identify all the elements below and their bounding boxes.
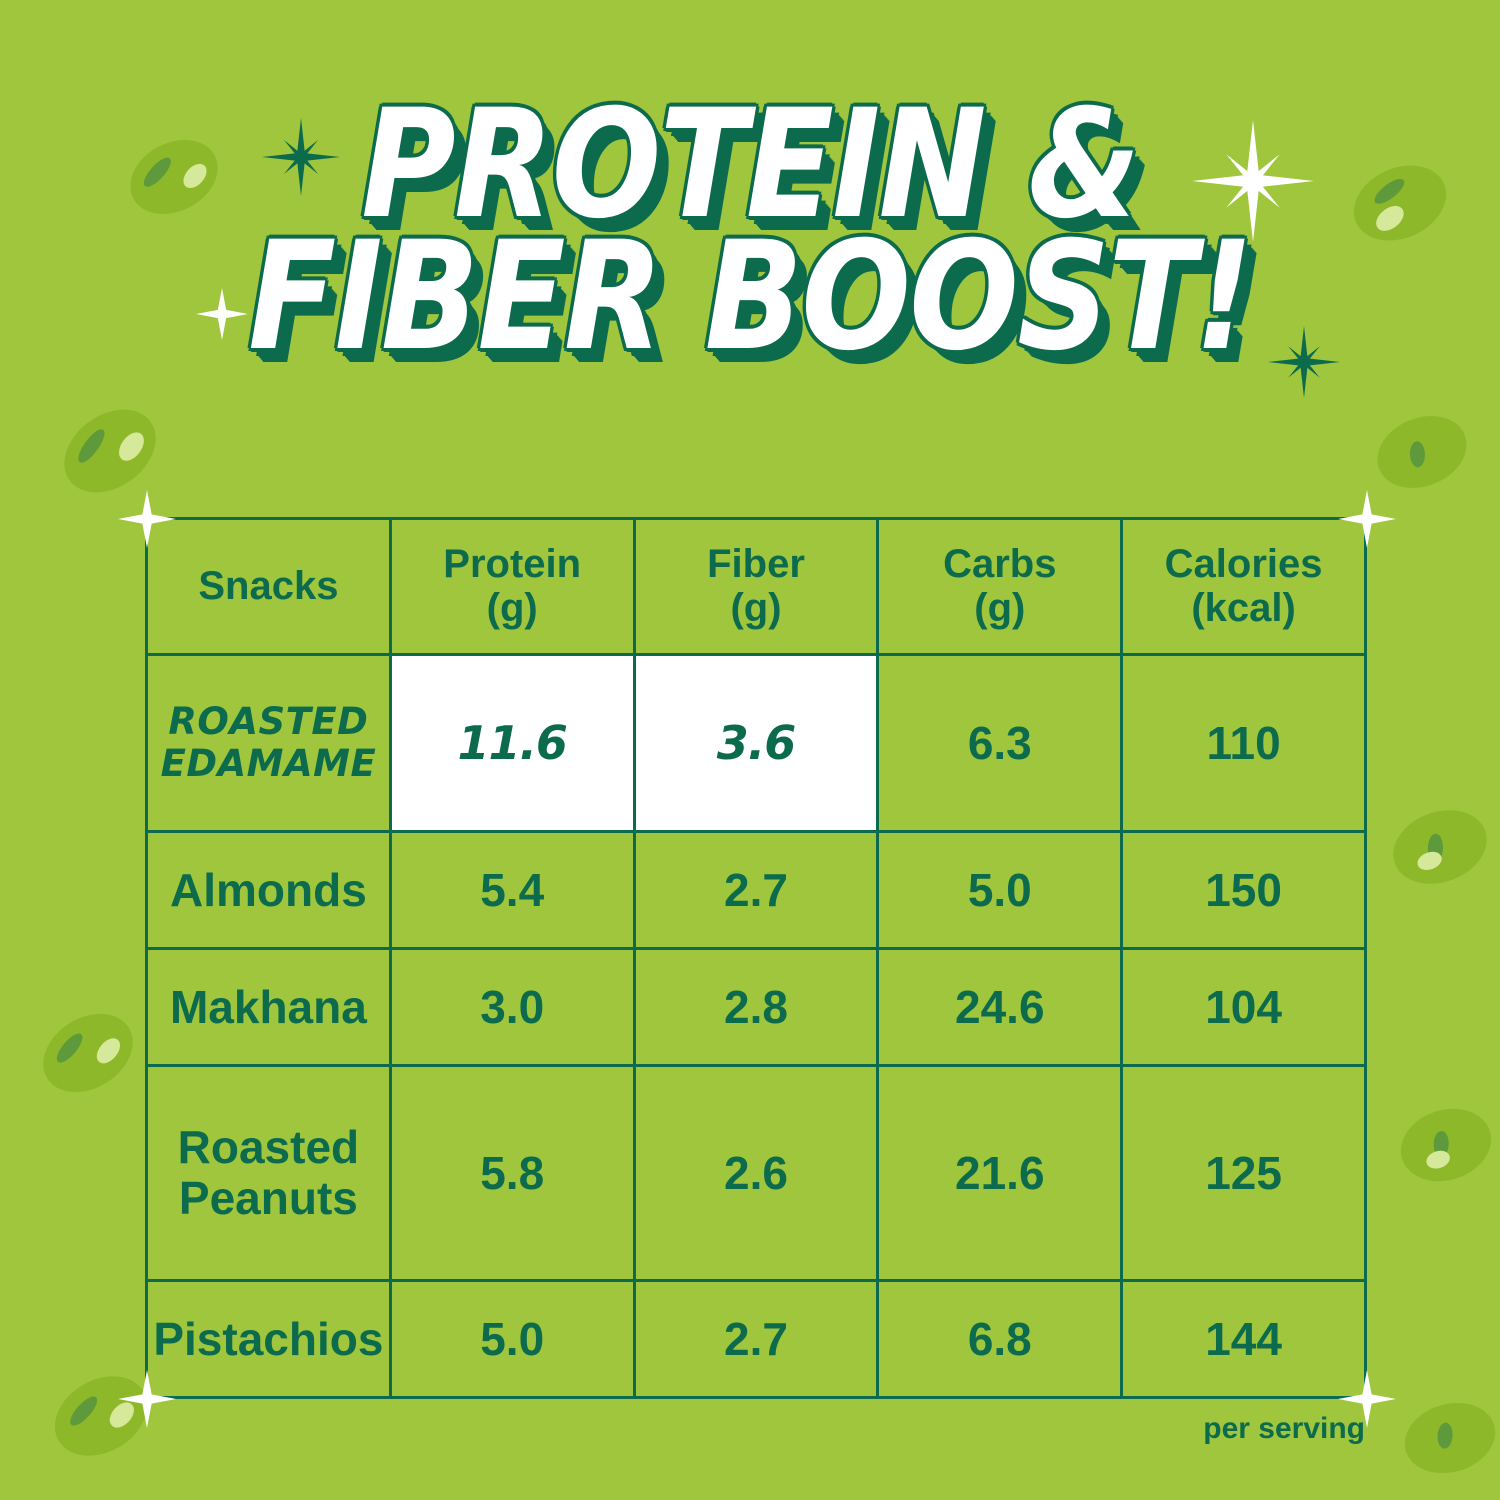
cell-carbs-almonds: 5.0 bbox=[878, 831, 1122, 948]
eight-point-star-icon bbox=[1268, 326, 1340, 398]
table-row: Almonds 5.4 2.7 5.0 150 bbox=[147, 831, 1366, 948]
row-label-line-1: Almonds bbox=[148, 865, 389, 916]
eight-point-star-icon bbox=[1192, 120, 1314, 242]
column-header-snacks: Snacks bbox=[147, 519, 391, 655]
column-header-carbs-unit: (g) bbox=[879, 587, 1120, 630]
cell-fiber-roasted-edamame: 3.6 bbox=[634, 655, 878, 832]
table-row: Pistachios 5.0 2.7 6.8 144 bbox=[147, 1280, 1366, 1397]
cell-protein-roasted-peanuts: 5.8 bbox=[390, 1066, 634, 1280]
cell-calories-roasted-edamame: 110 bbox=[1122, 655, 1366, 832]
cell-carbs-roasted-peanuts: 21.6 bbox=[878, 1066, 1122, 1280]
cell-fiber-makhana: 2.8 bbox=[634, 948, 878, 1065]
table-header-row: Snacks Protein (g) Fiber (g) Carbs (g) bbox=[147, 519, 1366, 655]
four-point-sparkle-icon bbox=[118, 490, 176, 548]
cell-calories-makhana: 104 bbox=[1122, 948, 1366, 1065]
cell-fiber-almonds: 2.7 bbox=[634, 831, 878, 948]
row-label-line-1: Pistachios bbox=[148, 1314, 389, 1365]
column-header-carbs-name: Carbs bbox=[879, 543, 1120, 586]
four-point-sparkle-icon bbox=[118, 1370, 176, 1428]
column-header-fiber-name: Fiber bbox=[636, 543, 877, 586]
column-header-protein-unit: (g) bbox=[392, 587, 633, 630]
headline-line-2: FIBER BOOST! bbox=[105, 228, 1395, 366]
edamame-bean-icon bbox=[29, 998, 148, 1108]
cell-calories-pistachios: 144 bbox=[1122, 1280, 1366, 1397]
column-header-fiber-unit: (g) bbox=[636, 587, 877, 630]
column-header-fiber: Fiber (g) bbox=[634, 519, 878, 655]
row-label-line-2: EDAMAME bbox=[148, 743, 389, 784]
row-label-line-2: Peanuts bbox=[148, 1173, 389, 1224]
row-label-line-1: ROASTED bbox=[148, 701, 389, 742]
edamame-bean-icon bbox=[1391, 1097, 1500, 1192]
per-serving-note: per serving bbox=[1203, 1412, 1365, 1446]
column-header-calories-unit: (kcal) bbox=[1123, 587, 1364, 630]
row-label-makhana: Makhana bbox=[147, 948, 391, 1065]
cell-protein-almonds: 5.4 bbox=[390, 831, 634, 948]
row-label-almonds: Almonds bbox=[147, 831, 391, 948]
edamame-bean-icon bbox=[1342, 152, 1458, 255]
row-label-roasted-edamame: ROASTED EDAMAME bbox=[147, 655, 391, 832]
table-row: ROASTED EDAMAME 11.6 3.6 6.3 110 bbox=[147, 655, 1366, 832]
cell-calories-roasted-peanuts: 125 bbox=[1122, 1066, 1366, 1280]
edamame-bean-icon bbox=[1396, 1393, 1500, 1484]
column-header-snacks-name: Snacks bbox=[148, 565, 389, 608]
cell-protein-pistachios: 5.0 bbox=[390, 1280, 634, 1397]
cell-carbs-pistachios: 6.8 bbox=[878, 1280, 1122, 1397]
column-header-calories: Calories (kcal) bbox=[1122, 519, 1366, 655]
cell-calories-almonds: 150 bbox=[1122, 831, 1366, 948]
four-point-sparkle-icon bbox=[196, 288, 248, 340]
column-header-protein-name: Protein bbox=[392, 543, 633, 586]
row-label-line-1: Roasted bbox=[148, 1122, 389, 1173]
column-header-carbs: Carbs (g) bbox=[878, 519, 1122, 655]
cell-protein-makhana: 3.0 bbox=[390, 948, 634, 1065]
cell-fiber-roasted-peanuts: 2.6 bbox=[634, 1066, 878, 1280]
row-label-pistachios: Pistachios bbox=[147, 1280, 391, 1397]
row-label-line-1: Makhana bbox=[148, 982, 389, 1033]
nutrition-table: Snacks Protein (g) Fiber (g) Carbs (g) bbox=[145, 517, 1367, 1399]
edamame-bean-icon bbox=[1367, 403, 1478, 501]
four-point-sparkle-icon bbox=[1338, 490, 1396, 548]
cell-fiber-pistachios: 2.7 bbox=[634, 1280, 878, 1397]
cell-carbs-makhana: 24.6 bbox=[878, 948, 1122, 1065]
nutrition-table-wrapper: Snacks Protein (g) Fiber (g) Carbs (g) bbox=[145, 517, 1367, 1399]
cell-protein-roasted-edamame: 11.6 bbox=[390, 655, 634, 832]
column-header-calories-name: Calories bbox=[1123, 543, 1364, 586]
column-header-protein: Protein (g) bbox=[390, 519, 634, 655]
row-label-roasted-peanuts: Roasted Peanuts bbox=[147, 1066, 391, 1280]
edamame-bean-icon bbox=[117, 125, 230, 228]
table-row: Makhana 3.0 2.8 24.6 104 bbox=[147, 948, 1366, 1065]
table-row: Roasted Peanuts 5.8 2.6 21.6 125 bbox=[147, 1066, 1366, 1280]
cell-carbs-roasted-edamame: 6.3 bbox=[878, 655, 1122, 832]
edamame-bean-icon bbox=[1383, 798, 1497, 897]
poster-canvas: PROTEIN & FIBER BOOST! Snacks Protein (g… bbox=[0, 0, 1500, 1500]
eight-point-star-icon bbox=[262, 118, 340, 196]
